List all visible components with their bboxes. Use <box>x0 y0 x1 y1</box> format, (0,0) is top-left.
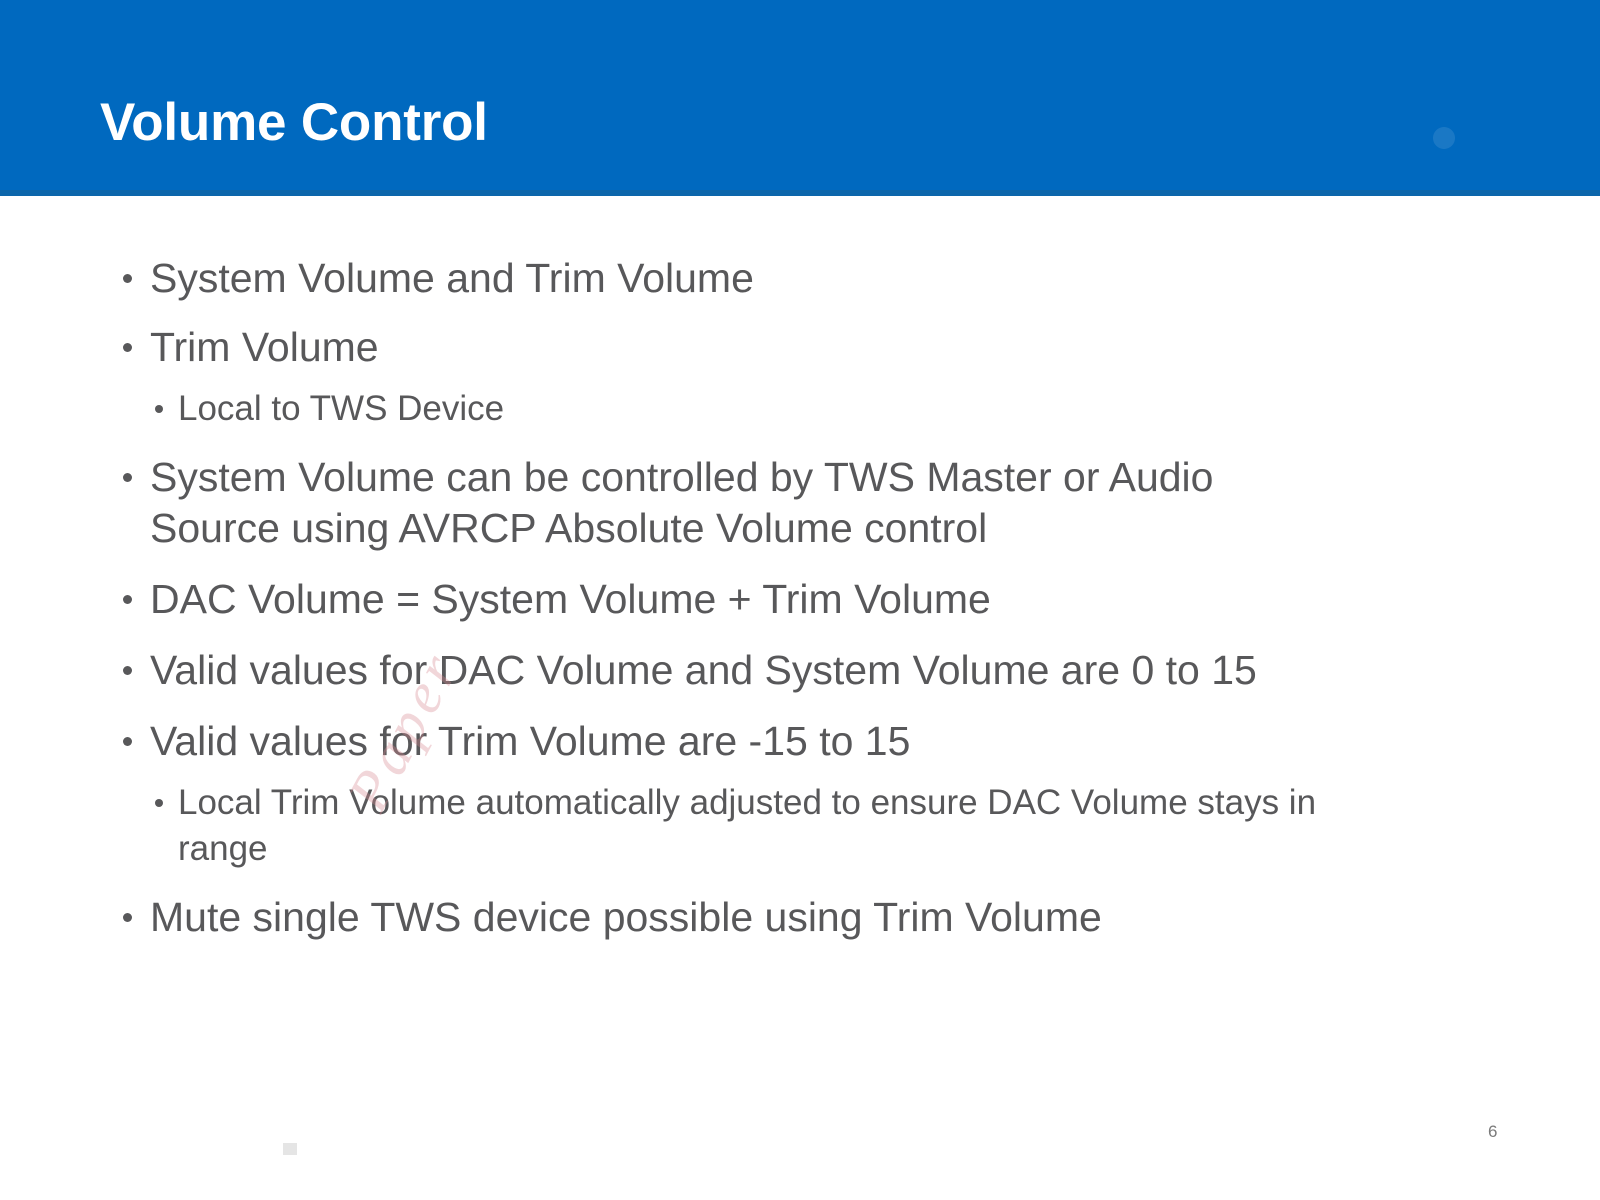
bullet-dot-icon <box>104 452 150 503</box>
bullet-item: Trim Volume <box>104 322 1600 373</box>
bullet-dot-icon <box>104 716 150 767</box>
bullet-item-sub: Local to TWS Device <box>139 386 1600 432</box>
bullet-dot-icon <box>104 322 150 373</box>
bullet-text: Mute single TWS device possible using Tr… <box>150 892 1330 943</box>
bullet-text: Trim Volume <box>150 322 1330 373</box>
bullet-text: Valid values for Trim Volume are -15 to … <box>150 716 1330 767</box>
bullet-item: System Volume can be controlled by TWS M… <box>104 452 1600 554</box>
bullet-text: System Volume can be controlled by TWS M… <box>150 452 1330 554</box>
bullet-item: Valid values for Trim Volume are -15 to … <box>104 716 1600 767</box>
bullet-text: Local Trim Volume automatically adjusted… <box>178 780 1338 872</box>
bullet-text: System Volume and Trim Volume <box>150 253 1330 304</box>
bullet-item: DAC Volume = System Volume + Trim Volume <box>104 574 1600 625</box>
page-title: Volume Control <box>100 92 488 153</box>
slide-canvas: Volume Control System Volume and Trim Vo… <box>0 0 1600 1200</box>
bullet-dot-icon <box>104 574 150 625</box>
bullet-dot-icon <box>139 780 178 826</box>
bullet-text: DAC Volume = System Volume + Trim Volume <box>150 574 1330 625</box>
bullet-item: Mute single TWS device possible using Tr… <box>104 892 1600 943</box>
bullet-dot-icon <box>139 386 178 432</box>
bullet-item: System Volume and Trim Volume <box>104 253 1600 304</box>
bullet-text: Local to TWS Device <box>178 386 1338 432</box>
bullet-dot-icon <box>104 253 150 304</box>
bullet-dot-icon <box>104 892 150 943</box>
page-number: 6 <box>1488 1122 1497 1142</box>
bullet-dot-icon <box>104 645 150 696</box>
bullet-item: Valid values for DAC Volume and System V… <box>104 645 1600 696</box>
bullet-item-sub: Local Trim Volume automatically adjusted… <box>139 780 1600 872</box>
bullet-text: Valid values for DAC Volume and System V… <box>150 645 1330 696</box>
slide-body: System Volume and Trim Volume Trim Volum… <box>0 196 1600 1200</box>
